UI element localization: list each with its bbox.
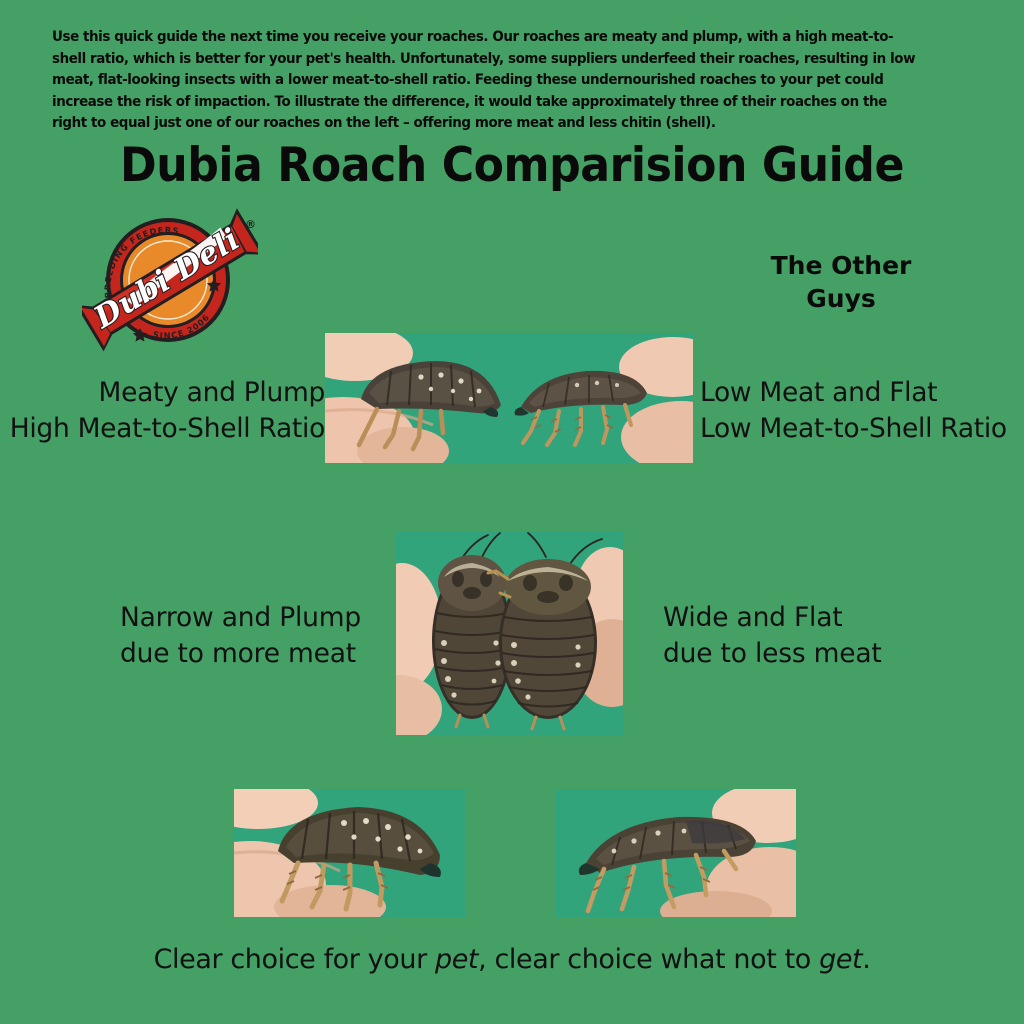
caption-top-right: Low Meat and Flat Low Meat-to-Shell Rati… (700, 375, 1024, 447)
caption-top-left: Meaty and Plump High Meat-to-Shell Ratio (0, 375, 325, 447)
caption-middle-right-line-1: Wide and Flat (663, 600, 943, 636)
photo-dorsal-illustration (396, 531, 623, 735)
caption-top-right-line-1: Low Meat and Flat (700, 375, 1024, 411)
caption-top-left-line-1: Meaty and Plump (0, 375, 325, 411)
bottom-caption-part-1: Clear choice for your (154, 944, 435, 975)
other-guys-heading: The Other Guys (726, 249, 956, 315)
photo-closeup-flat-illustration (556, 789, 796, 917)
other-guys-line-2: Guys (726, 282, 956, 315)
dubi-deli-logo: BREEDING FEEDERS SINCE 2006 Dubi Deli ® (82, 206, 258, 352)
bottom-caption-part-2: , clear choice what not to (478, 944, 819, 975)
bottom-caption-part-3: . (862, 944, 870, 975)
caption-middle-left: Narrow and Plump due to more meat (120, 600, 380, 672)
intro-paragraph: Use this quick guide the next time you r… (52, 26, 917, 134)
caption-top-right-line-2: Low Meat-to-Shell Ratio (700, 411, 1024, 447)
caption-middle-left-line-2: due to more meat (120, 636, 380, 672)
bottom-caption-italic-get: get (819, 944, 862, 975)
caption-middle-right: Wide and Flat due to less meat (663, 600, 943, 672)
photo-closeup-flat (556, 789, 796, 917)
page-title: Dubia Roach Comparision Guide (31, 138, 994, 193)
photo-closeup-plump-illustration (234, 789, 465, 917)
photo-side-profile-illustration (325, 333, 693, 463)
photo-dorsal-pair (396, 531, 623, 735)
caption-top-left-line-2: High Meat-to-Shell Ratio (0, 411, 325, 447)
poster-canvas: Use this quick guide the next time you r… (0, 0, 1024, 1024)
logo-registered-icon: ® (245, 218, 256, 231)
bottom-caption-italic-pet: pet (435, 944, 478, 975)
caption-middle-right-line-2: due to less meat (663, 636, 943, 672)
photo-closeup-plump (234, 789, 465, 917)
caption-middle-left-line-1: Narrow and Plump (120, 600, 380, 636)
bottom-caption: Clear choice for your pet, clear choice … (0, 944, 1024, 975)
other-guys-line-1: The Other (726, 249, 956, 282)
photo-side-profile-pair (325, 333, 693, 463)
